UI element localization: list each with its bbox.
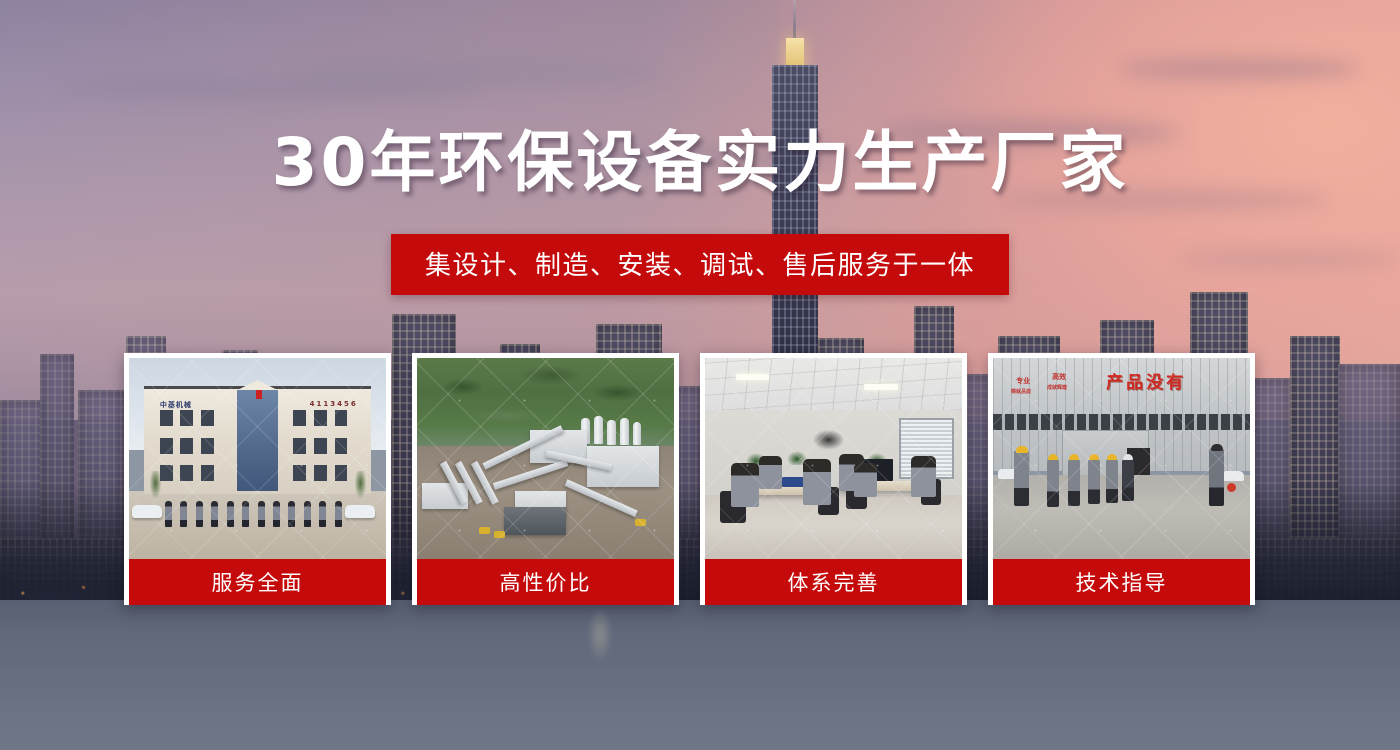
- card-caption: 技术指导: [993, 559, 1250, 605]
- river-water: [0, 600, 1400, 750]
- factory-wall-slogan: 产品没有: [1106, 368, 1186, 393]
- office-interior-photo: [705, 358, 962, 559]
- feature-card-value[interactable]: 高性价比: [412, 353, 679, 605]
- factory-wall-slogan-1-sub: 铸就品质: [1011, 388, 1031, 395]
- factory-wall-slogan-1: 专业: [1016, 376, 1030, 386]
- wall-decal: [808, 420, 849, 452]
- factory-wall-slogan-2: 高效: [1052, 372, 1066, 382]
- building-sign-phone: 4113456: [310, 400, 358, 408]
- landmark-tower: [772, 65, 818, 395]
- card-caption: 服务全面: [129, 559, 386, 605]
- company-headquarters-photo: 中基机械 4113456: [129, 358, 386, 559]
- feature-card-system[interactable]: 体系完善: [700, 353, 967, 605]
- workers-training-photo: 产品没有 专业 铸就品质 高效 成就辉煌: [993, 358, 1250, 559]
- page-title: 30年环保设备实力生产厂家: [0, 126, 1400, 200]
- subheadline-badge: 集设计、制造、安装、调试、售后服务于一体: [391, 234, 1009, 295]
- flag-icon: [256, 390, 262, 399]
- aerial-production-plant-photo: [417, 358, 674, 559]
- card-caption: 高性价比: [417, 559, 674, 605]
- promo-banner: 30年环保设备实力生产厂家 集设计、制造、安装、调试、售后服务于一体 中基机械 …: [0, 0, 1400, 750]
- building-sign-logo: 中基机械: [160, 400, 192, 410]
- feature-card-service[interactable]: 中基机械 4113456: [124, 353, 391, 605]
- feature-card-guidance[interactable]: 产品没有 专业 铸就品质 高效 成就辉煌: [988, 353, 1255, 605]
- feature-card-list: 中基机械 4113456: [124, 353, 1276, 605]
- subheadline-wrap: 集设计、制造、安装、调试、售后服务于一体: [0, 234, 1400, 295]
- factory-wall-slogan-2-sub: 成就辉煌: [1047, 384, 1067, 391]
- water-reflection: [580, 604, 620, 664]
- card-caption: 体系完善: [705, 559, 962, 605]
